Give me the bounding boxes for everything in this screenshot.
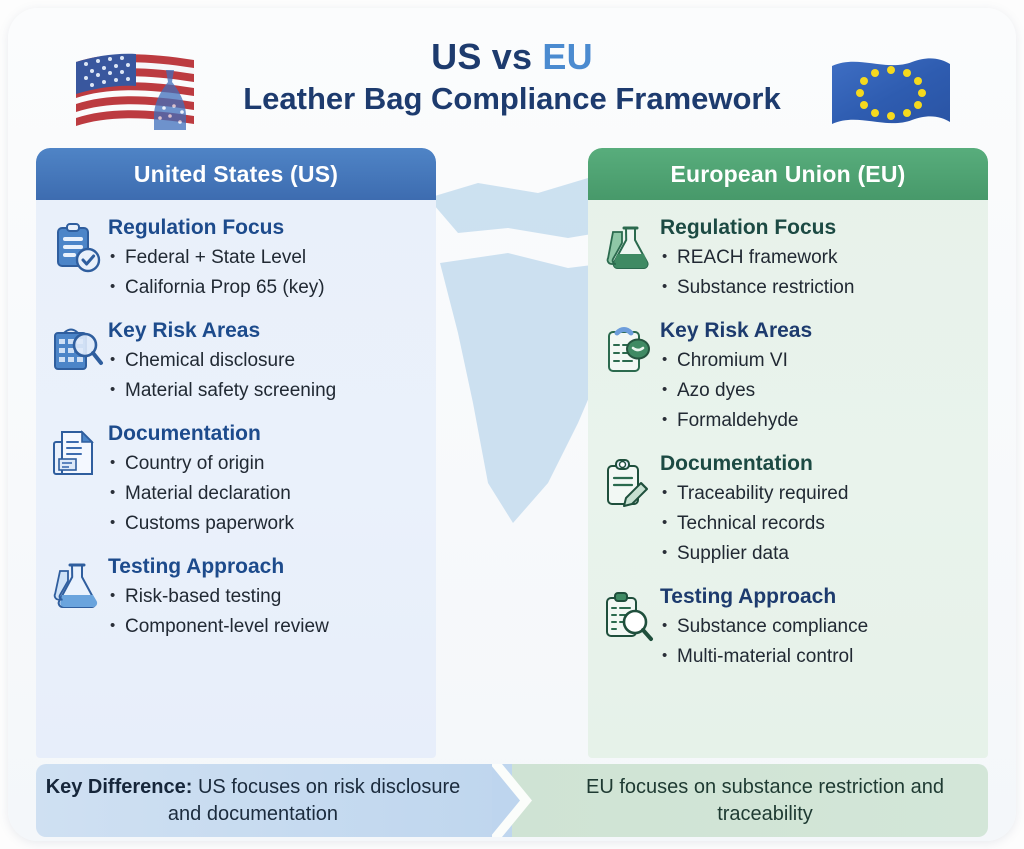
section-regulation-focus-us: Regulation Focus Federal + State Level C… — [50, 214, 422, 303]
bullet-item: Chemical disclosure — [108, 346, 422, 376]
section-text: Documentation Traceability required Tech… — [660, 450, 974, 569]
section-text: Testing Approach Substance compliance Mu… — [660, 583, 974, 672]
section-title: Documentation — [660, 450, 974, 478]
bullet-item: Substance restriction — [660, 273, 974, 303]
key-difference-eu-text: EU focuses on substance restriction and … — [542, 774, 988, 828]
panel-heading-eu: European Union (EU) — [588, 148, 988, 200]
section-testing-approach-us: Testing Approach Risk-based testing Comp… — [50, 553, 422, 642]
section-key-risk-areas-eu: Key Risk Areas Chromium VI Azo dyes Form… — [602, 317, 974, 436]
section-bullets: REACH framework Substance restriction — [660, 243, 974, 303]
section-text: Key Risk Areas Chromium VI Azo dyes Form… — [660, 317, 974, 436]
bullet-item: Multi-material control — [660, 642, 974, 672]
bullet-item: Traceability required — [660, 479, 974, 509]
panel-body-eu: Regulation Focus REACH framework Substan… — [588, 200, 988, 672]
clipboard-magnifier-icon — [602, 591, 658, 645]
key-difference-us-text: Key Difference: US focuses on risk discl… — [36, 774, 470, 828]
infographic-root: US vs EU Leather Bag Compliance Framewor… — [0, 0, 1024, 849]
section-text: Testing Approach Risk-based testing Comp… — [108, 553, 422, 642]
stacked-documents-icon — [50, 428, 106, 482]
eu-flag-icon — [824, 46, 958, 142]
clipboard-check-icon — [50, 222, 106, 276]
section-text: Key Risk Areas Chemical disclosure Mater… — [108, 317, 422, 406]
section-title: Testing Approach — [660, 583, 974, 611]
section-text: Regulation Focus REACH framework Substan… — [660, 214, 974, 303]
section-bullets: Chemical disclosure Material safety scre… — [108, 346, 422, 406]
bullet-item: Technical records — [660, 509, 974, 539]
bullet-item: Chromium VI — [660, 346, 974, 376]
infographic-header: US vs EU Leather Bag Compliance Framewor… — [8, 26, 1016, 146]
key-difference-eu-half: EU focuses on substance restriction and … — [512, 764, 988, 837]
bullet-item: Federal + State Level — [108, 243, 422, 273]
key-difference-us-body: US focuses on risk disclosure and docume… — [168, 776, 460, 825]
section-bullets: Chromium VI Azo dyes Formaldehyde — [660, 346, 974, 436]
key-difference-label: Key Difference: — [46, 776, 193, 798]
bullet-item: Material safety screening — [108, 376, 422, 406]
section-title: Documentation — [108, 420, 422, 448]
section-testing-approach-eu: Testing Approach Substance compliance Mu… — [602, 583, 974, 672]
bullet-item: REACH framework — [660, 243, 974, 273]
section-key-risk-areas-us: Key Risk Areas Chemical disclosure Mater… — [50, 317, 422, 406]
bullet-item: Customs paperwork — [108, 509, 422, 539]
panel-heading-us: United States (US) — [36, 148, 436, 200]
clipboard-pencil-icon — [602, 458, 658, 512]
infographic-card: US vs EU Leather Bag Compliance Framewor… — [8, 8, 1016, 841]
section-regulation-focus-eu: Regulation Focus REACH framework Substan… — [602, 214, 974, 303]
section-text: Documentation Country of origin Material… — [108, 420, 422, 539]
panel-body-us: Regulation Focus Federal + State Level C… — [36, 200, 436, 642]
section-title: Regulation Focus — [660, 214, 974, 242]
section-bullets: Risk-based testing Component-level revie… — [108, 582, 422, 642]
section-bullets: Federal + State Level California Prop 65… — [108, 243, 422, 303]
section-title: Key Risk Areas — [108, 317, 422, 345]
title-eu: EU — [542, 36, 592, 77]
section-title: Regulation Focus — [108, 214, 422, 242]
section-bullets: Country of origin Material declaration C… — [108, 449, 422, 539]
lab-flasks-icon — [602, 222, 658, 276]
title-vs: vs — [492, 36, 532, 77]
section-bullets: Substance compliance Multi-material cont… — [660, 612, 974, 672]
clipboard-check-icon — [602, 325, 658, 379]
bullet-item: Component-level review — [108, 612, 422, 642]
section-text: Regulation Focus Federal + State Level C… — [108, 214, 422, 303]
key-difference-us-half: Key Difference: US focuses on risk discl… — [36, 764, 512, 837]
bullet-item: Supplier data — [660, 539, 974, 569]
bullet-item: Formaldehyde — [660, 406, 974, 436]
bullet-item: Substance compliance — [660, 612, 974, 642]
bullet-item: Country of origin — [108, 449, 422, 479]
section-title: Testing Approach — [108, 553, 422, 581]
document-magnifier-icon — [50, 325, 106, 379]
bullet-item: Risk-based testing — [108, 582, 422, 612]
section-documentation-us: Documentation Country of origin Material… — [50, 420, 422, 539]
bullet-item: Azo dyes — [660, 376, 974, 406]
lab-flasks-icon — [50, 561, 106, 615]
bullet-item: California Prop 65 (key) — [108, 273, 422, 303]
column-panel-us: United States (US) Regulation Focus Fede… — [36, 148, 436, 758]
bullet-item: Material declaration — [108, 479, 422, 509]
section-documentation-eu: Documentation Traceability required Tech… — [602, 450, 974, 569]
key-difference-banner: Key Difference: US focuses on risk discl… — [36, 764, 988, 837]
section-title: Key Risk Areas — [660, 317, 974, 345]
section-bullets: Traceability required Technical records … — [660, 479, 974, 569]
title-us: US — [431, 36, 481, 77]
column-panel-eu: European Union (EU) Regulation Focus REA… — [588, 148, 988, 758]
